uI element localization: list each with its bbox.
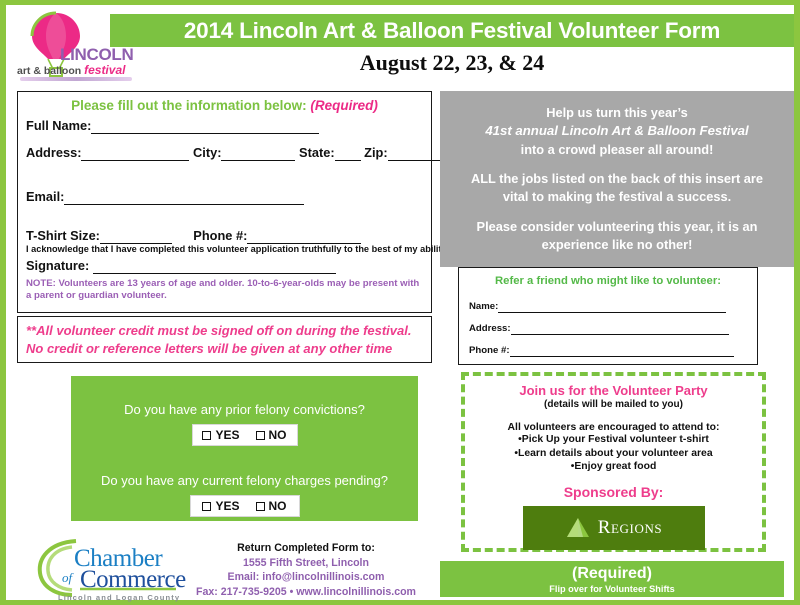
refer-friend-box: Refer a friend who might like to volunte… [458, 267, 758, 365]
acknowledgement-text: I acknowledge that I have completed this… [26, 244, 449, 254]
felony-answer-row-2[interactable]: YES NO [190, 495, 300, 517]
bottom-required-bar: (Required) Flip over for Volunteer Shift… [440, 561, 784, 597]
party-bullet-1: •Pick Up your Festival volunteer t-shirt [465, 433, 762, 447]
tshirt-size-input-line[interactable] [100, 228, 172, 244]
appeal-line-6: Please consider volunteering this year, … [477, 218, 758, 236]
form-heading: Please fill out the information below: (… [18, 98, 431, 113]
age-note: NOTE: Volunteers are 13 years of age and… [26, 278, 426, 302]
sponsored-by-label: Sponsored By: [465, 484, 762, 500]
field-email[interactable]: Email: [26, 189, 304, 205]
felony-2-no-option[interactable]: NO [256, 499, 287, 513]
appeal-line-5: vital to making the festival a success. [503, 188, 731, 206]
volunteer-form-page: LINCOLN art & balloon festival 2014 Linc… [0, 0, 800, 605]
refer-field-phone[interactable]: Phone #: [469, 345, 734, 357]
bottom-required-label: (Required) [572, 565, 652, 583]
felony-questions-panel: Do you have any prior felony convictions… [71, 376, 418, 521]
refer-name-input-line[interactable] [498, 301, 726, 313]
felony-question-1: Do you have any prior felony convictions… [71, 402, 418, 417]
felony-2-yes-option[interactable]: YES [202, 499, 239, 513]
credit-warning-text: **All volunteer credit must be signed of… [26, 322, 423, 357]
state-input-line[interactable] [335, 145, 361, 161]
felony-question-2: Do you have any current felony charges p… [71, 473, 418, 488]
appeal-message-panel: Help us turn this year’s 41st annual Lin… [440, 91, 794, 267]
header-title-bar: 2014 Lincoln Art & Balloon Festival Volu… [110, 14, 794, 47]
felony-1-yes-option[interactable]: YES [202, 428, 239, 442]
checkbox-icon[interactable] [202, 502, 211, 511]
volunteer-party-box: Join us for the Volunteer Party (details… [461, 372, 766, 552]
signature-input-line[interactable] [93, 258, 336, 274]
field-address-row[interactable]: Address: City: State: Zip: [26, 145, 442, 161]
appeal-line-1: Help us turn this year’s [546, 104, 688, 122]
chamber-of-word: of [62, 570, 72, 586]
regions-pyramid-icon [565, 516, 591, 540]
chamber-subtitle: Lincoln and Logan County [58, 593, 180, 602]
party-bullet-3: •Enjoy great food [465, 460, 762, 474]
regions-wordmark: Regions [598, 517, 663, 539]
full-name-input-line[interactable] [91, 118, 319, 134]
felony-1-no-option[interactable]: NO [256, 428, 287, 442]
party-bullet-2: •Learn details about your volunteer area [465, 447, 762, 461]
applicant-info-box: Please fill out the information below: (… [17, 91, 432, 313]
zip-input-line[interactable] [388, 145, 442, 161]
checkbox-icon[interactable] [256, 431, 265, 440]
phone-input-line[interactable] [247, 228, 361, 244]
field-full-name[interactable]: Full Name: [26, 118, 319, 134]
checkbox-icon[interactable] [202, 431, 211, 440]
commerce-word: Commerce [80, 566, 186, 594]
party-subheading: (details will be mailed to you) [465, 399, 762, 410]
return-address: 1555 Fifth Street, Lincoln [186, 556, 426, 571]
party-encouraged-text: All volunteers are encouraged to attend … [465, 422, 762, 433]
refer-phone-input-line[interactable] [510, 345, 734, 357]
field-tshirt-phone-row[interactable]: T-Shirt Size: Phone #: [26, 228, 361, 244]
refer-heading: Refer a friend who might like to volunte… [459, 275, 757, 287]
email-input-line[interactable] [64, 189, 304, 205]
felony-answer-row-1[interactable]: YES NO [192, 424, 298, 446]
city-input-line[interactable] [221, 145, 295, 161]
bottom-flip-label: Flip over for Volunteer Shifts [549, 584, 674, 594]
appeal-line-7: experience like no other! [542, 236, 693, 254]
refer-address-input-line[interactable] [511, 323, 729, 335]
party-heading: Join us for the Volunteer Party [465, 383, 762, 398]
festival-dates: August 22, 23, & 24 [110, 50, 794, 76]
logo-swoosh [20, 77, 132, 81]
return-email[interactable]: Email: info@lincolnillinois.com [186, 570, 426, 585]
checkbox-icon[interactable] [256, 502, 265, 511]
regions-sponsor-logo: Regions [523, 506, 705, 550]
appeal-line-4: ALL the jobs listed on the back of this … [471, 170, 763, 188]
refer-field-address[interactable]: Address: [469, 323, 729, 335]
appeal-line-3: into a crowd pleaser all around! [521, 141, 714, 159]
required-tag: (Required) [310, 98, 378, 113]
return-title: Return Completed Form to: [186, 541, 426, 556]
refer-field-name[interactable]: Name: [469, 301, 726, 313]
address-input-line[interactable] [81, 145, 189, 161]
return-info-block: Return Completed Form to: 1555 Fifth Str… [186, 541, 426, 599]
page-title: 2014 Lincoln Art & Balloon Festival Volu… [184, 18, 720, 44]
credit-warning-box: **All volunteer credit must be signed of… [17, 316, 432, 363]
field-signature[interactable]: Signature: [26, 258, 336, 274]
chamber-of-commerce-logo: Chamber of Commerce Lincoln and Logan Co… [36, 537, 186, 603]
appeal-line-2: 41st annual Lincoln Art & Balloon Festiv… [485, 122, 748, 141]
return-fax-website[interactable]: Fax: 217-735-9205 • www.lincolnillinois.… [186, 585, 426, 600]
